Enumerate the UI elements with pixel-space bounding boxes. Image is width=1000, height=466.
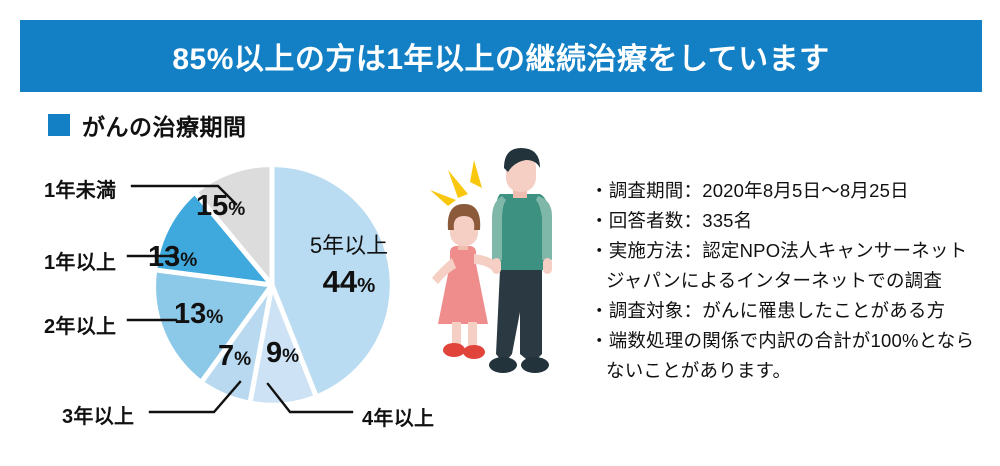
pie-value-2years: 13% [174,300,223,329]
pie-label-4years: 4年以上 [362,402,434,431]
note-line: ・調査対象：がんに罹患したことがある方 [590,296,990,326]
pie-value-3years: 7% [218,342,251,371]
note-line: ・実施方法：認定NPO法人キャンサーネット [590,236,990,266]
page-title: 85%以上の方は1年以上の継続治療をしています [172,34,829,78]
pie-value-1year: 13% [148,243,197,272]
note-line: ・端数処理の関係で内訳の合計が100%となら [590,326,990,356]
note-line: ・調査期間：2020年8月5日～8月25日 [590,176,990,206]
adult-figure [489,148,552,373]
parent-and-child-illustration [408,142,578,392]
pie-label-5years-text: 5年以上 [294,232,404,260]
pie-value-under1year: 15% [196,192,245,221]
pie-label-2years: 2年以上 [44,310,116,339]
pie-value-5years: 44% [294,263,404,302]
note-line: ないことがあります。 [590,356,990,386]
illustration-svg [408,142,578,392]
pie-value-4years: 9% [266,339,299,368]
note-line: ・回答者数：335名 [590,206,990,236]
infographic-root: 85%以上の方は1年以上の継続治療をしています がんの治療期間 [0,0,1000,466]
sparkle-icon [430,160,482,206]
survey-notes: ・調査期間：2020年8月5日～8月25日 ・回答者数：335名 ・実施方法：認… [590,176,990,386]
pie-label-5years: 5年以上 44% [294,232,404,301]
child-figure [432,204,496,359]
note-line: ジャパンによるインターネットでの調査 [590,266,990,296]
header-banner: 85%以上の方は1年以上の継続治療をしています [20,20,982,92]
pie-label-3years: 3年以上 [62,400,134,429]
pie-label-1year: 1年以上 [44,246,116,275]
pie-label-under1year: 1年未満 [44,174,116,203]
